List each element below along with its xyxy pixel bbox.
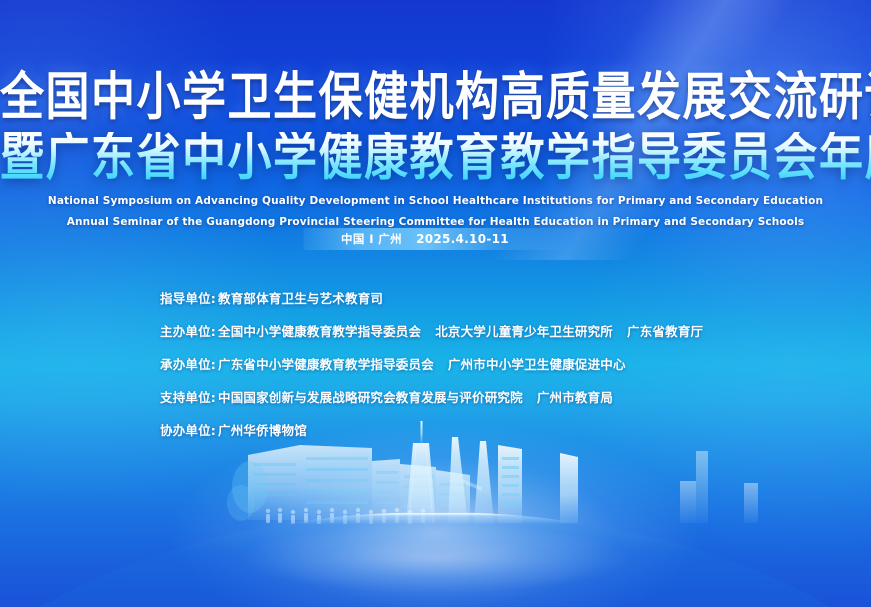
organizer-label: 主办单位:	[160, 321, 216, 340]
organizer-label: 承办单位:	[160, 354, 216, 373]
organizer-row: 主办单位:全国中小学健康教育教学指导委员会北京大学儿童青少年卫生研究所广东省教育…	[160, 321, 703, 340]
organizer-value: 北京大学儿童青少年卫生研究所	[435, 321, 613, 340]
organizer-value: 教育部体育卫生与艺术教育司	[218, 288, 383, 307]
organizer-label: 协办单位:	[160, 420, 216, 439]
organizer-value: 广东省中小学健康教育教学指导委员会	[218, 354, 434, 373]
poster-subtitle-en-line1: National Symposium on Advancing Quality …	[0, 194, 871, 209]
organizer-list: 指导单位:教育部体育卫生与艺术教育司主办单位:全国中小学健康教育教学指导委员会北…	[160, 288, 703, 439]
conference-poster: 全国中小学卫生保健机构高质量发展交流研讨活动 暨广东省中小学健康教育教学指导委员…	[0, 0, 871, 607]
title-block: 全国中小学卫生保健机构高质量发展交流研讨活动 暨广东省中小学健康教育教学指导委员…	[0, 72, 871, 230]
organizer-values: 中国国家创新与发展战略研究会教育发展与评价研究院广州市教育局	[218, 387, 613, 406]
poster-title-line2: 暨广东省中小学健康教育教学指导委员会年度研讨活动	[0, 132, 871, 184]
location-text: 中国 I 广州	[341, 231, 402, 247]
organizer-values: 广东省中小学健康教育教学指导委员会广州市中小学卫生健康促进中心	[218, 354, 626, 373]
organizer-row: 指导单位:教育部体育卫生与艺术教育司	[160, 288, 703, 307]
organizer-label: 支持单位:	[160, 387, 216, 406]
date-location-banner: 中国 I 广州 2025.4.10-11	[303, 228, 568, 250]
organizer-row: 协办单位:广州华侨博物馆	[160, 420, 703, 439]
organizer-row: 支持单位:中国国家创新与发展战略研究会教育发展与评价研究院广州市教育局	[160, 387, 703, 406]
organizer-values: 教育部体育卫生与艺术教育司	[218, 288, 383, 307]
poster-title-line1: 全国中小学卫生保健机构高质量发展交流研讨活动	[0, 72, 871, 124]
organizer-label: 指导单位:	[160, 288, 216, 307]
organizer-values: 广州华侨博物馆	[218, 420, 307, 439]
organizer-value: 中国国家创新与发展战略研究会教育发展与评价研究院	[218, 387, 523, 406]
organizer-value: 广州华侨博物馆	[218, 420, 307, 439]
organizer-value: 广东省教育厅	[627, 321, 703, 340]
organizer-value: 全国中小学健康教育教学指导委员会	[218, 321, 421, 340]
date-text: 2025.4.10-11	[416, 232, 509, 246]
organizer-row: 承办单位:广东省中小学健康教育教学指导委员会广州市中小学卫生健康促进中心	[160, 354, 703, 373]
organizer-values: 全国中小学健康教育教学指导委员会北京大学儿童青少年卫生研究所广东省教育厅	[218, 321, 703, 340]
organizer-value: 广州市教育局	[537, 387, 613, 406]
organizer-value: 广州市中小学卫生健康促进中心	[448, 354, 626, 373]
